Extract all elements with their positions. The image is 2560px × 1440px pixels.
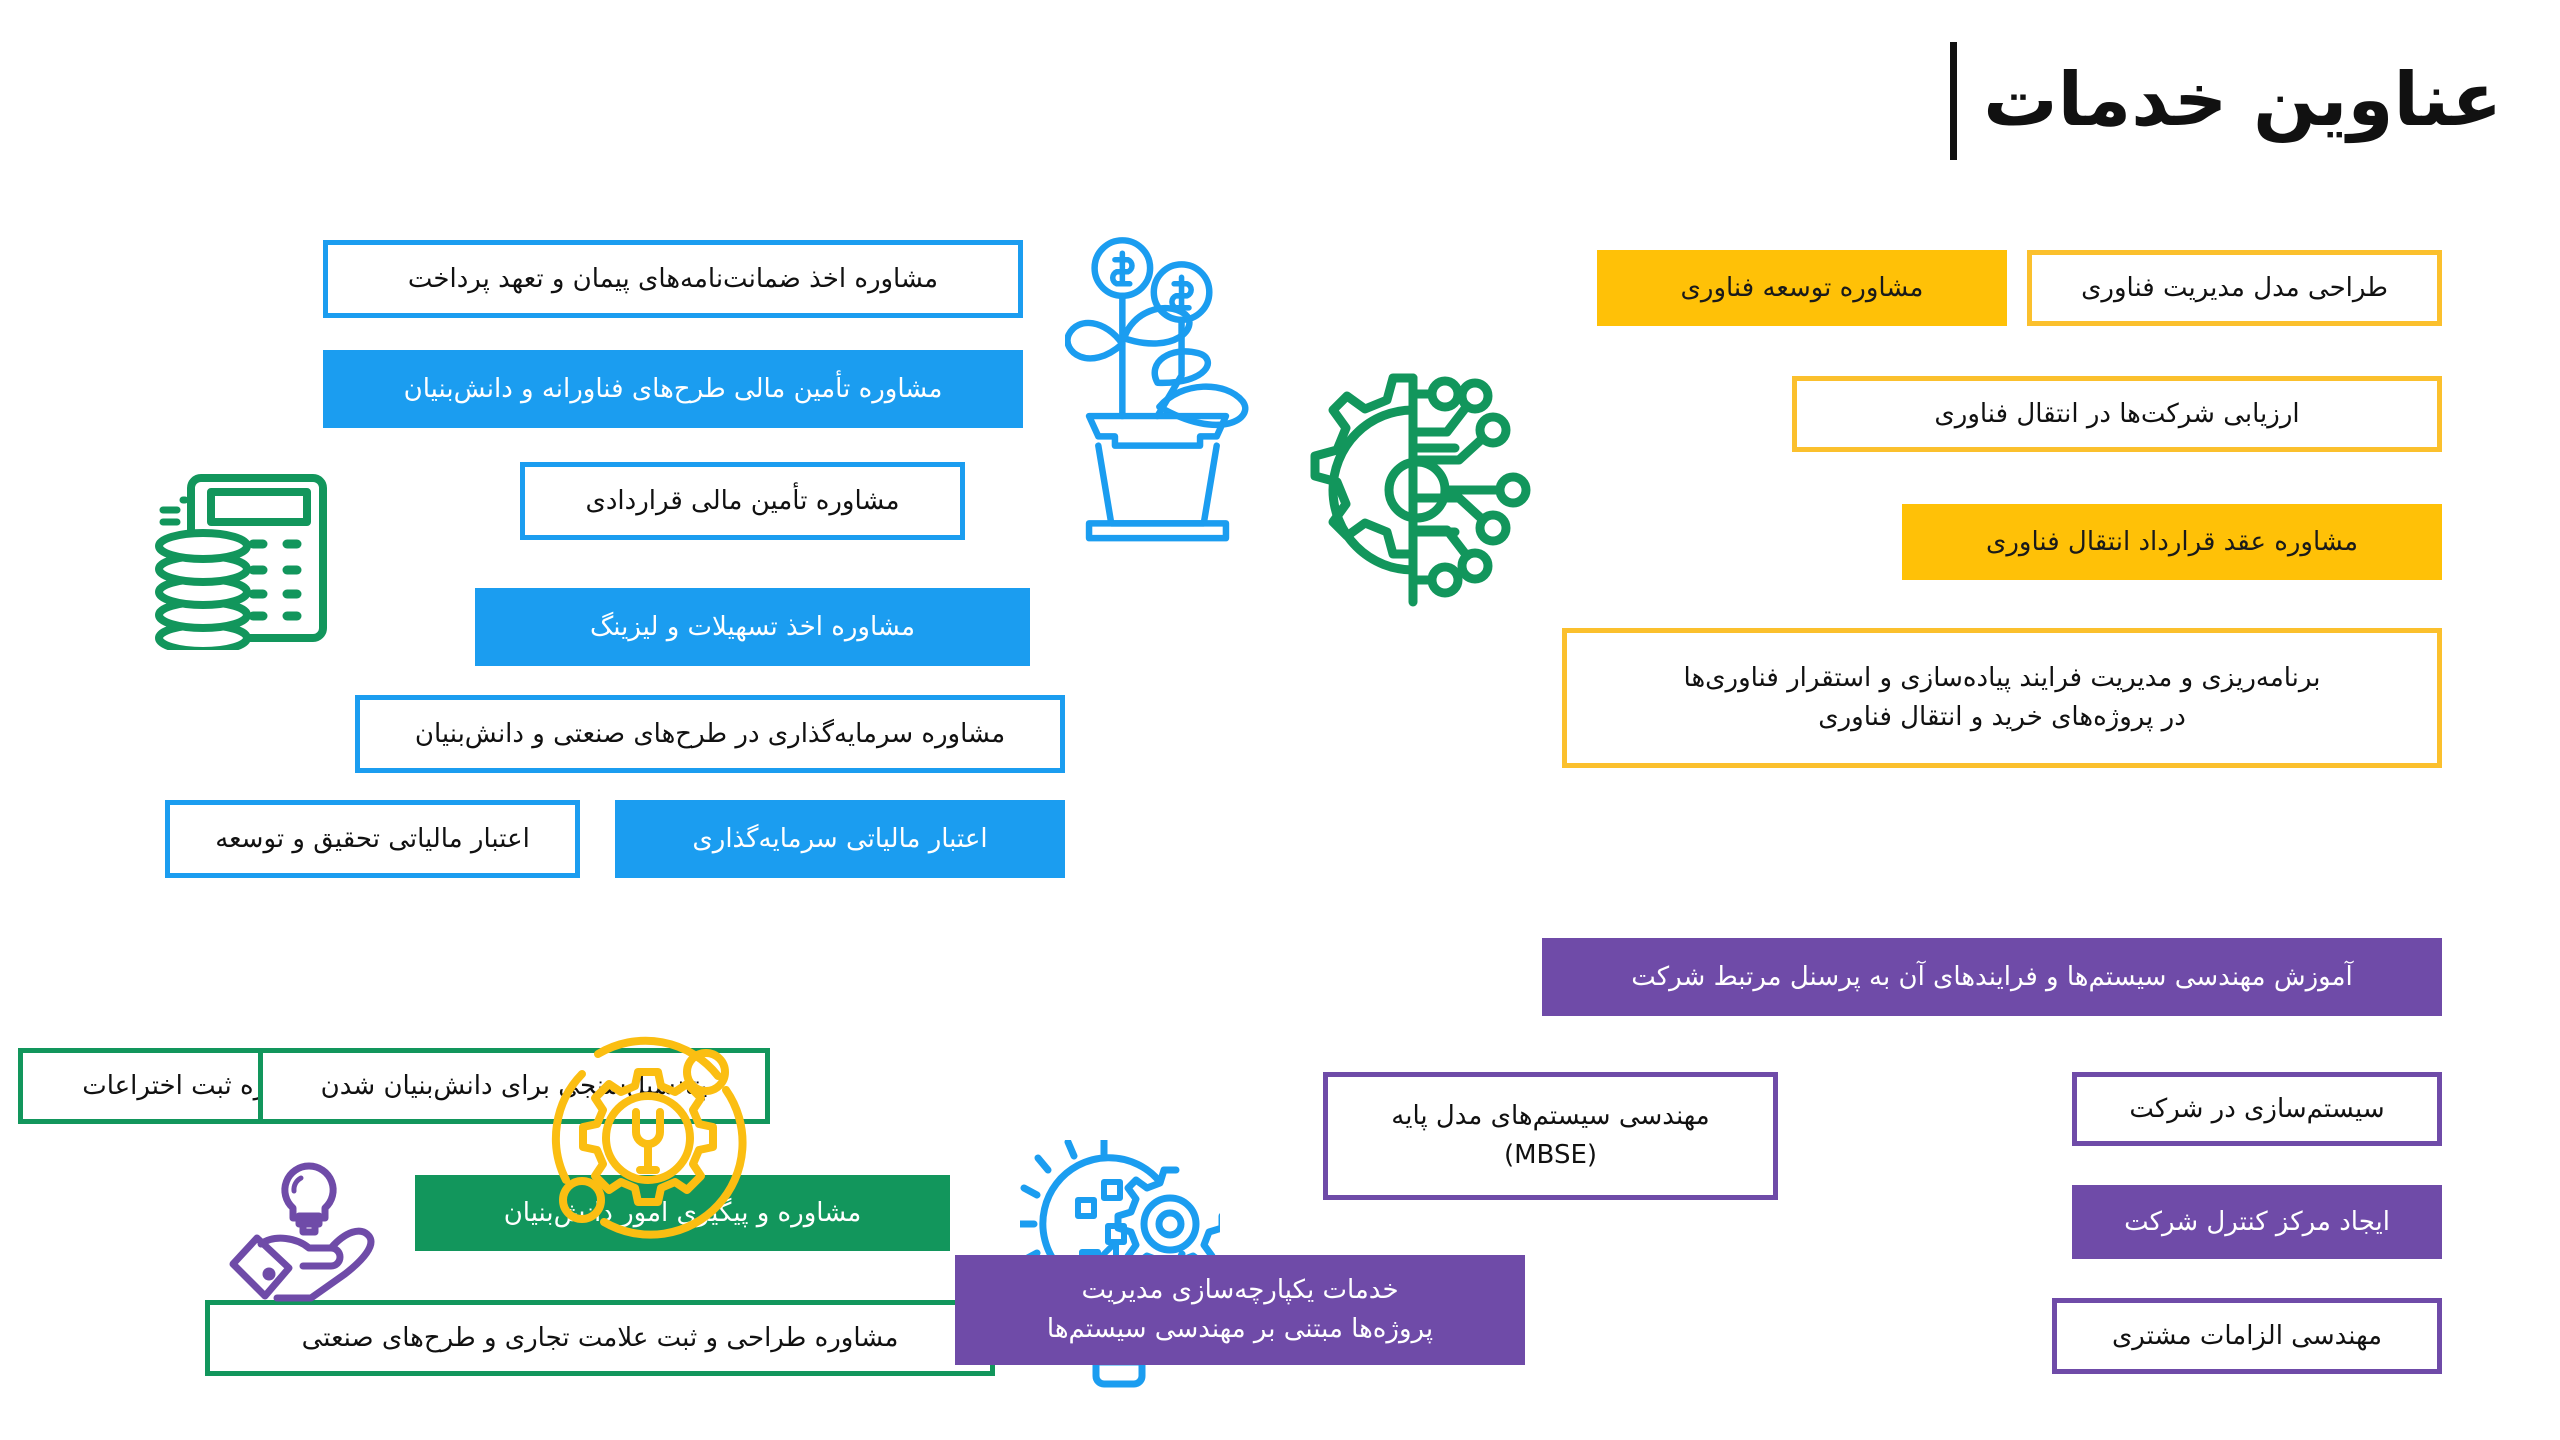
technology-item-5[interactable]: برنامه‌ریزی و مدیریت فرایند پیاده‌سازی و…	[1562, 628, 2442, 768]
finance-item-6[interactable]: اعتبار مالیاتی سرمایه‌گذاری	[615, 800, 1065, 878]
systems-item-2[interactable]: سیستم‌سازی در شرکت	[2072, 1072, 2442, 1146]
slide-canvas: عناوین خدمات مشاوره اخذ ضمانت‌نامه‌های پ…	[0, 0, 2560, 1440]
finance-item-3[interactable]: مشاوره تأمین مالی قراردادی	[520, 462, 965, 540]
systems-item-5[interactable]: خدمات یکپارچه‌سازی مدیریت پروژه‌ها مبتنی…	[955, 1255, 1525, 1365]
money-plant-icon	[1065, 232, 1250, 552]
systems-item-6[interactable]: مهندسی الزامات مشتری	[2052, 1298, 2442, 1374]
finance-item-5[interactable]: مشاوره سرمایه‌گذاری در طرح‌های صنعتی و د…	[355, 695, 1065, 773]
technology-item-3[interactable]: ارزیابی شرکت‌ها در انتقال فناوری	[1792, 376, 2442, 452]
calculator-coins-icon	[145, 460, 355, 650]
knowledge-item-4[interactable]: مشاوره طراحی و ثبت علامت تجاری و طرح‌های…	[205, 1300, 995, 1376]
finance-item-2[interactable]: مشاوره تأمین مالی طرح‌های فناورانه و دان…	[323, 350, 1023, 428]
page-title-text: عناوین خدمات	[1983, 60, 2502, 141]
technology-item-4[interactable]: مشاوره عقد قرارداد انتقال فناوری	[1902, 504, 2442, 580]
finance-item-1[interactable]: مشاوره اخذ ضمانت‌نامه‌های پیمان و تعهد پ…	[323, 240, 1023, 318]
gear-circuit-icon	[1295, 370, 1555, 610]
hand-bulb-icon	[225, 1158, 385, 1308]
systems-item-4[interactable]: ایجاد مرکز کنترل شرکت	[2072, 1185, 2442, 1259]
finance-item-7[interactable]: اعتبار مالیاتی تحقیق و توسعه	[165, 800, 580, 878]
gear-wrench-orbit-icon	[540, 1030, 755, 1245]
technology-item-2[interactable]: مشاوره توسعه فناوری	[1597, 250, 2007, 326]
systems-item-3[interactable]: مهندسی سیستم‌های مدل پایه (MBSE)	[1323, 1072, 1778, 1200]
systems-item-1[interactable]: آموزش مهندسی سیستم‌ها و فرایندهای آن به …	[1542, 938, 2442, 1016]
technology-item-1[interactable]: طراحی مدل مدیریت فناوری	[2027, 250, 2442, 326]
page-title: عناوین خدمات	[1950, 42, 2502, 160]
finance-item-4[interactable]: مشاوره اخذ تسهیلات و لیزینگ	[475, 588, 1030, 666]
title-accent-bar	[1950, 42, 1957, 160]
